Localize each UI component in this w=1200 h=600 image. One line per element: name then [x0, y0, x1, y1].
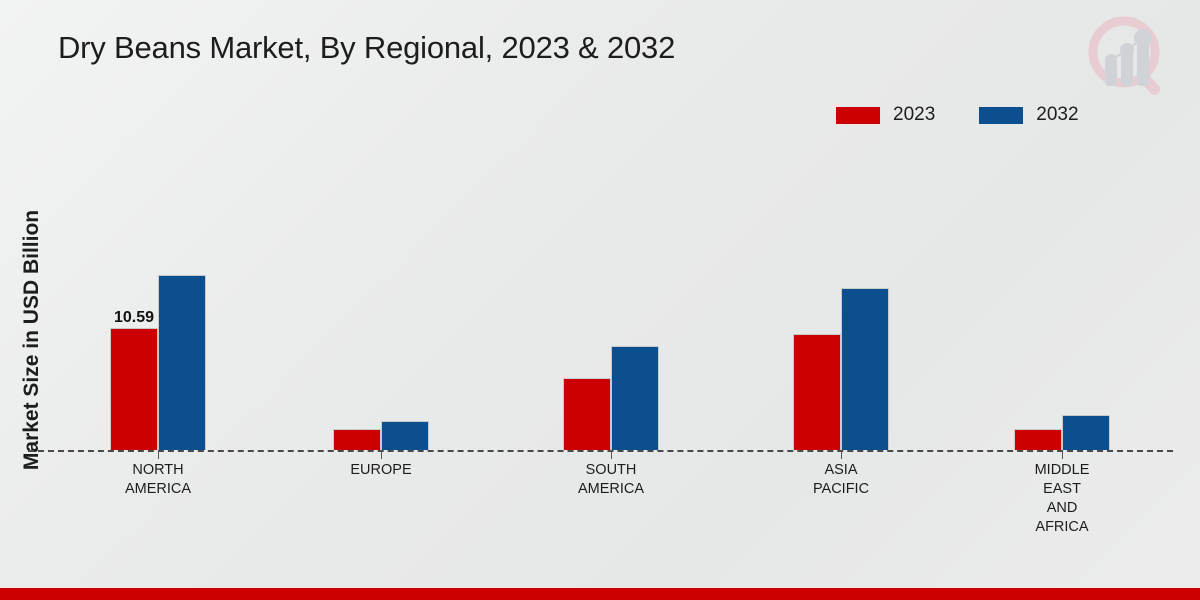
x-axis-label-middle-east-and-africa: MIDDLE EAST AND AFRICA [977, 461, 1147, 537]
bar-south-america-2032[interactable] [611, 346, 659, 450]
bar-asia-pacific-2032[interactable] [841, 288, 889, 450]
x-axis-label-line: PACIFIC [756, 480, 926, 499]
bar-asia-pacific-2023[interactable] [793, 334, 841, 450]
bar-group-middle-east-and-africa [1014, 150, 1110, 450]
bar-group-europe [333, 150, 429, 450]
axis-tick-south-america [611, 450, 612, 459]
x-axis-label-europe: EUROPE [296, 461, 466, 480]
bar-group-north-america: 10.59 [110, 150, 206, 450]
x-axis-label-line: AFRICA [977, 518, 1147, 537]
x-axis-label-line: NORTH [73, 461, 243, 480]
bar-group-south-america [563, 150, 659, 450]
x-axis-label-line: AMERICA [526, 480, 696, 499]
bar-middle-east-and-africa-2032[interactable] [1062, 415, 1110, 450]
x-axis-label-line: ASIA [756, 461, 926, 480]
bar-north-america-2023[interactable]: 10.59 [110, 328, 158, 450]
bar-value-label: 10.59 [114, 309, 154, 327]
x-axis-label-line: EAST [977, 480, 1147, 499]
axis-tick-europe [381, 450, 382, 459]
x-axis-label-asia-pacific: ASIA PACIFIC [756, 461, 926, 499]
bar-europe-2023[interactable] [333, 429, 381, 450]
x-axis-label-north-america: NORTH AMERICA [73, 461, 243, 499]
bar-south-america-2023[interactable] [563, 378, 611, 450]
x-axis-label-line: AND [977, 499, 1147, 518]
bar-middle-east-and-africa-2023[interactable] [1014, 429, 1062, 450]
x-axis-label-line: MIDDLE [977, 461, 1147, 480]
axis-tick-asia-pacific [841, 450, 842, 459]
x-axis-label-line: EUROPE [296, 461, 466, 480]
axis-baseline [28, 450, 1173, 452]
bar-europe-2032[interactable] [381, 421, 429, 450]
x-axis-label-south-america: SOUTH AMERICA [526, 461, 696, 499]
chart-plot-area: 10.59 NORTH AMERICA EUROPE SOUTH AMERICA… [0, 0, 1200, 600]
bar-north-america-2032[interactable] [158, 275, 206, 450]
x-axis-label-line: SOUTH [526, 461, 696, 480]
axis-tick-north-america [158, 450, 159, 459]
axis-tick-middle-east-and-africa [1062, 450, 1063, 459]
x-axis-label-line: AMERICA [73, 480, 243, 499]
footer-accent-bar [0, 588, 1200, 600]
bar-group-asia-pacific [793, 150, 889, 450]
